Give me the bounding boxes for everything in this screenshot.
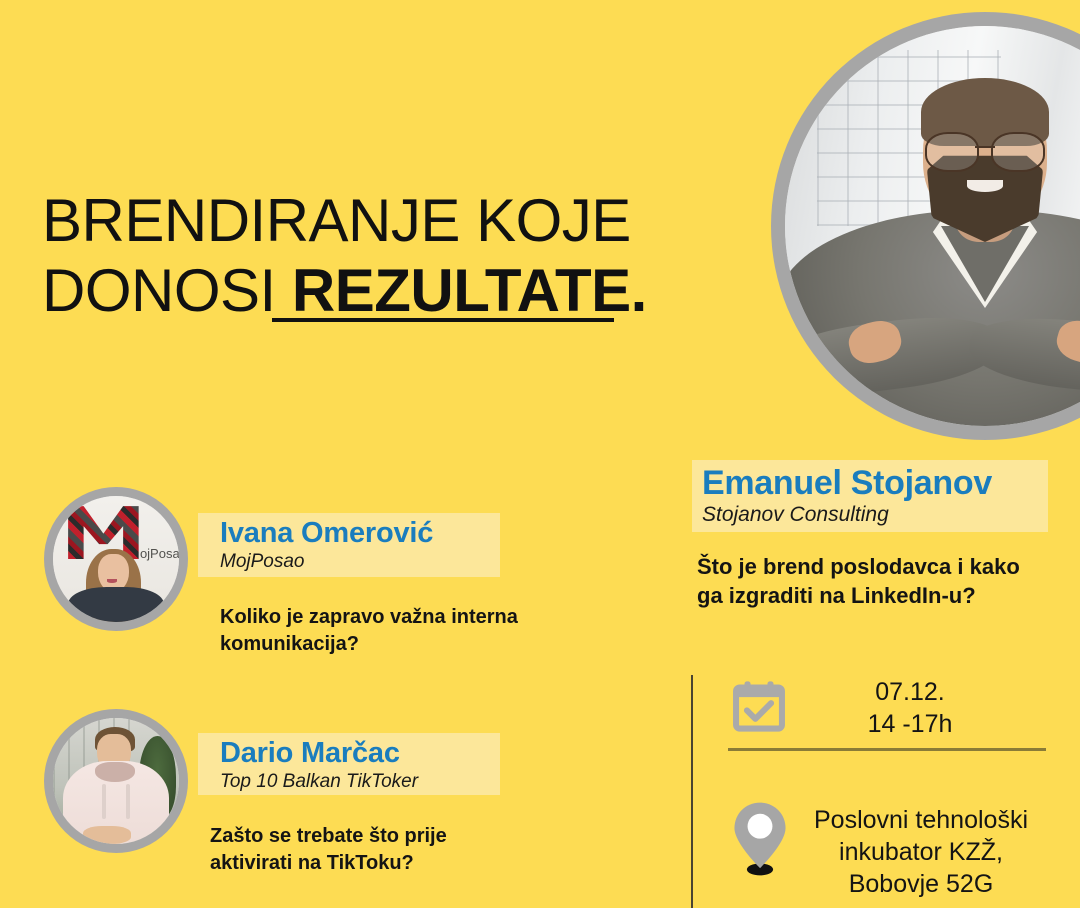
- headline-underline: [272, 318, 614, 322]
- ivana-photo-clip: ojPosao.: [53, 496, 179, 622]
- map-pin-icon: [730, 800, 790, 876]
- calendar-check-icon: [730, 679, 788, 737]
- featured-speaker-photo: [771, 12, 1080, 440]
- speaker-topic-ivana: Koliko je zapravo važna interna komunika…: [220, 604, 540, 658]
- glasses-bridge: [975, 146, 994, 149]
- event-date: 07.12.: [788, 676, 1032, 708]
- horizontal-divider: [728, 748, 1046, 751]
- dario-hands: [83, 826, 131, 844]
- lens-left: [925, 132, 979, 172]
- event-location-address: Poslovni tehnološki inkubator KZŽ, Bobov…: [790, 800, 1052, 900]
- hoodie-string-right: [126, 784, 130, 819]
- speaker-organization-ivana: MojPosao: [220, 550, 500, 574]
- speaker-topic-dario: Zašto se trebate što prije aktivirati na…: [210, 823, 530, 877]
- featured-photo-clip: [785, 26, 1080, 426]
- featured-speaker-topic: Što je brend poslodavca i kako ga izgrad…: [697, 552, 1027, 610]
- featured-speaker-organization: Stojanov Consulting: [702, 502, 1048, 528]
- ivana-top: [68, 587, 164, 622]
- headline-light-text: DONOSI: [42, 257, 292, 324]
- lens-right: [991, 132, 1045, 172]
- event-poster: BRENDIRANJE KOJE DONOSI REZULTATE.: [0, 0, 1080, 908]
- featured-speaker-badge: Emanuel Stojanov Stojanov Consulting: [692, 460, 1048, 532]
- location-line-3: Bobovje 52G: [790, 868, 1052, 900]
- smile: [967, 180, 1003, 192]
- ivana-smile: [107, 579, 117, 583]
- eyeglasses-icon: [925, 132, 1045, 168]
- speaker-name-ivana: Ivana Omerović: [220, 516, 500, 550]
- speaker-name-dario: Dario Marčac: [220, 736, 500, 770]
- hoodie-string-left: [102, 784, 106, 819]
- featured-speaker-name: Emanuel Stojanov: [702, 464, 1048, 502]
- poster-headline: BRENDIRANJE KOJE DONOSI REZULTATE.: [42, 186, 702, 326]
- location-line-2: inkubator KZŽ,: [790, 836, 1052, 868]
- event-date-time: 07.12. 14 -17h: [788, 676, 1050, 740]
- event-date-row: 07.12. 14 -17h: [730, 672, 1050, 744]
- headline-line-1: BRENDIRANJE KOJE: [42, 186, 702, 256]
- speaker-organization-dario: Top 10 Balkan TikToker: [220, 770, 500, 794]
- speaker-photo-ivana-omerovic: ojPosao.: [44, 487, 188, 631]
- event-location-row: Poslovni tehnološki inkubator KZŽ, Bobov…: [730, 800, 1052, 900]
- event-time: 14 -17h: [788, 708, 1032, 740]
- speaker-badge-dario-marcac: Dario Marčac Top 10 Balkan TikToker: [198, 733, 500, 795]
- vertical-divider: [691, 675, 693, 908]
- speaker-photo-dario-marcac: [44, 709, 188, 853]
- speaker-badge-ivana-omerovic: Ivana Omerović MojPosao: [198, 513, 500, 577]
- headline-bold-text: REZULTATE.: [292, 257, 647, 324]
- location-line-1: Poslovni tehnološki: [790, 804, 1052, 836]
- dario-photo-clip: [53, 718, 179, 844]
- mojposao-wordmark: ojPosao.: [140, 546, 179, 561]
- headline-line-2: DONOSI REZULTATE.: [42, 256, 702, 326]
